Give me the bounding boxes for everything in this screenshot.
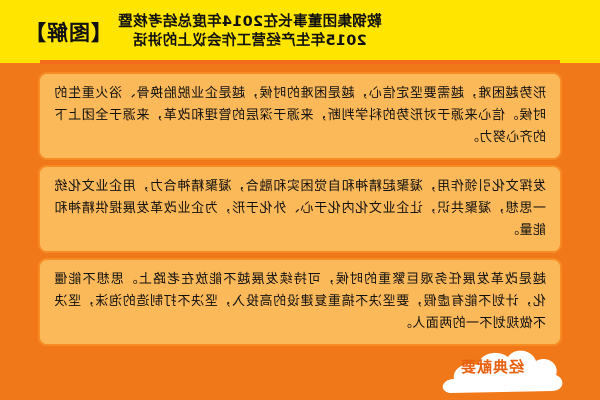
content-box-3: 越是改革发展任务艰巨繁重的时候，可持续发展越不能放在老路上。思想不能僵化，计划不… <box>38 258 562 346</box>
content-box-2-text: 发挥文化引领作用，凝聚起精神和自觉困实和融合，凝聚精神合力，用企业文化统一思想，… <box>54 176 546 242</box>
page-title-line-1: 鞍钢集团董事长在2014年度总结考核暨 <box>118 13 382 31</box>
header-divider <box>40 60 560 64</box>
content-box-3-text: 越是改革发展任务艰巨繁重的时候，可持续发展越不能放在老路上。思想不能僵化，计划不… <box>54 269 546 335</box>
content-box-2: 发挥文化引领作用，凝聚起精神和自觉困实和融合，凝聚精神合力，用企业文化统一思想，… <box>38 165 562 253</box>
page-title: 鞍钢集团董事长在2014年度总结考核暨 2015年生产经营工作会议上的讲话 <box>118 13 382 49</box>
slide-header: 【图解】 鞍钢集团董事长在2014年度总结考核暨 2015年生产经营工作会议上的… <box>0 0 600 63</box>
cloud-badge: 经典献要 <box>420 341 568 397</box>
page-title-tag: 【图解】 <box>24 17 112 47</box>
cloud-badge-label: 经典献要 <box>420 341 568 397</box>
content-box-1-text: 形势越困难，越需要坚定信心，越是困难的时候，越是企业脱胎换骨、浴火重生的时候。信… <box>54 83 546 149</box>
content-box-1: 形势越困难，越需要坚定信心，越是困难的时候，越是企业脱胎换骨、浴火重生的时候。信… <box>38 72 562 160</box>
page-title-line-2: 2015年生产经营工作会议上的讲话 <box>133 32 367 50</box>
slide-canvas: 【图解】 鞍钢集团董事长在2014年度总结考核暨 2015年生产经营工作会议上的… <box>0 0 600 400</box>
